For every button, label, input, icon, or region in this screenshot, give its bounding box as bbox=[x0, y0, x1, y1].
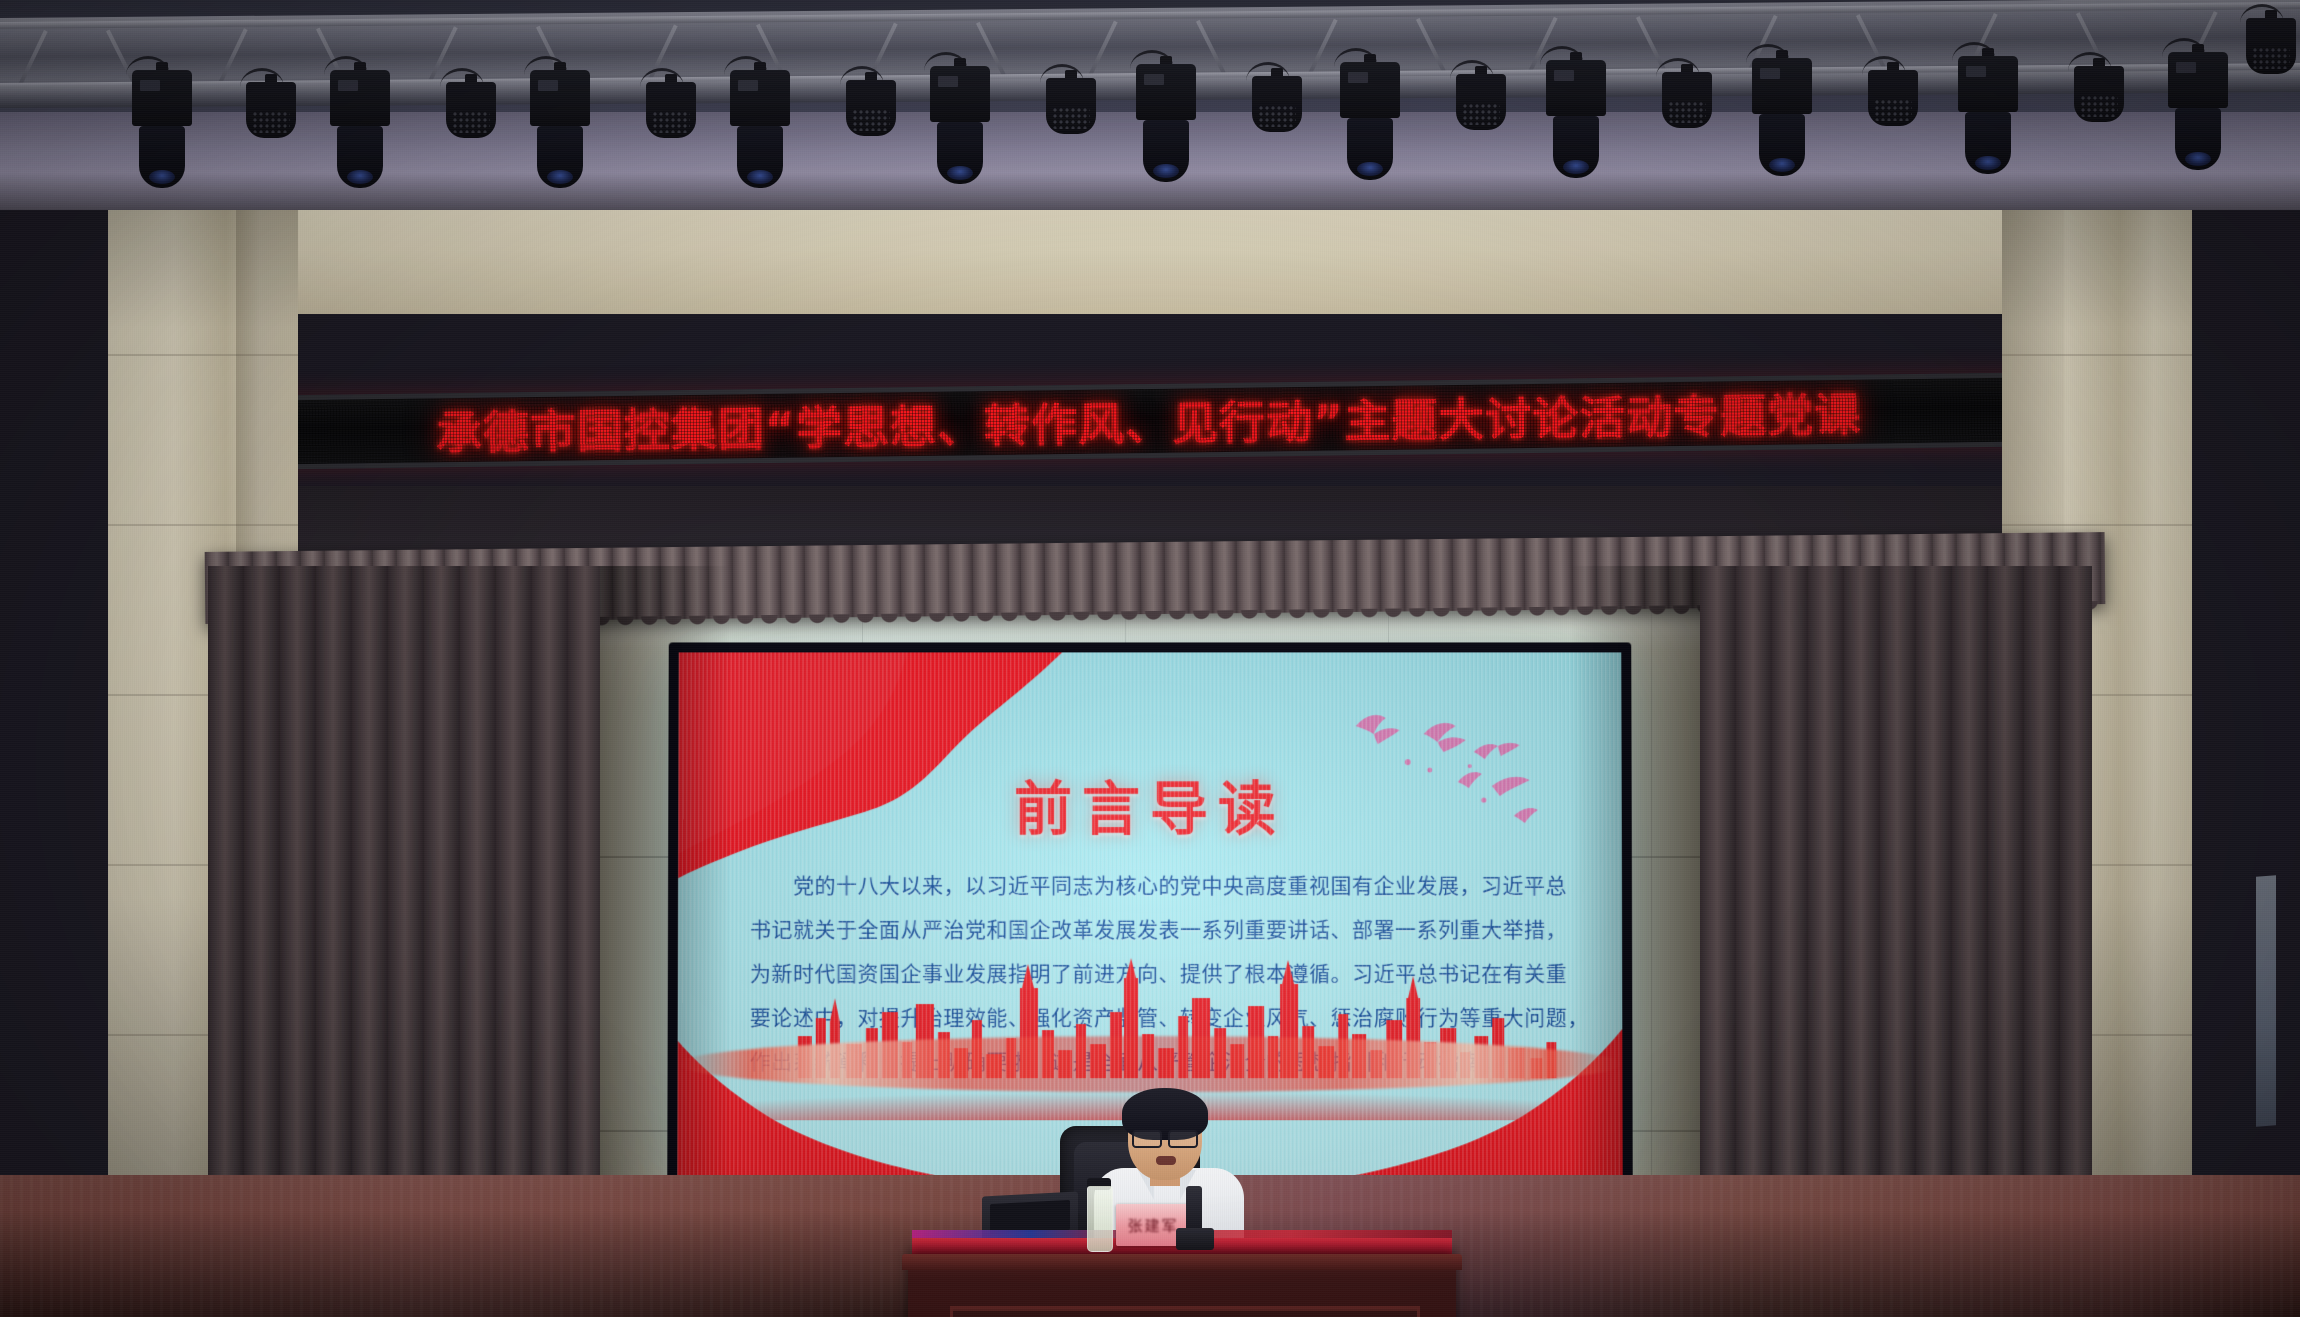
speaker-podium bbox=[908, 1254, 1456, 1317]
moving-head-light bbox=[2168, 52, 2228, 170]
par-can-light bbox=[2246, 18, 2296, 74]
moving-head-light bbox=[1958, 56, 2018, 174]
moving-head-light bbox=[730, 70, 790, 188]
podium-cap-moulding bbox=[902, 1254, 1462, 1270]
moving-head-light bbox=[1340, 62, 1400, 180]
moving-head-light bbox=[1136, 64, 1196, 182]
red-ribbon-highlight bbox=[678, 1036, 1623, 1092]
moving-head-light bbox=[132, 70, 192, 188]
par-can-light bbox=[1662, 72, 1712, 128]
ceiling-area bbox=[0, 0, 2300, 210]
window-sliver bbox=[2256, 875, 2276, 1126]
auditorium-hall: 承德市国控集团“学思想、转作风、见行动”主题大讨论活动专题党课 bbox=[0, 186, 2300, 1317]
microphone-base bbox=[1176, 1228, 1214, 1250]
speaker-mouth bbox=[1156, 1156, 1176, 1165]
water-bottle bbox=[1087, 1186, 1113, 1252]
par-can-light bbox=[246, 82, 296, 138]
slide-title: 前言导读 bbox=[678, 762, 1622, 846]
par-can-light bbox=[646, 82, 696, 138]
moving-head-light bbox=[530, 70, 590, 188]
par-can-light bbox=[846, 80, 896, 136]
moving-head-light bbox=[930, 66, 990, 184]
par-can-light bbox=[1456, 74, 1506, 130]
glasses-icon bbox=[1132, 1130, 1198, 1145]
led-banner-text: 承德市国控集团“学思想、转作风、见行动”主题大讨论活动专题党课 bbox=[435, 379, 1861, 464]
moving-head-light bbox=[330, 70, 390, 188]
par-can-light bbox=[2074, 66, 2124, 122]
moving-head-light bbox=[1752, 58, 1812, 176]
par-can-light bbox=[1252, 76, 1302, 132]
par-can-light bbox=[1868, 70, 1918, 126]
auditorium-stage-photo: 承德市国控集团“学思想、转作风、见行动”主题大讨论活动专题党课 bbox=[0, 0, 2300, 1317]
slide-line: 党的十八大以来，以习近平同志为核心的党中央高度重视国有企业发展，习近平总 bbox=[750, 864, 1556, 908]
par-can-light bbox=[1046, 78, 1096, 134]
moving-head-light bbox=[1546, 60, 1606, 178]
podium-front-panel bbox=[950, 1306, 1420, 1317]
par-can-light bbox=[446, 82, 496, 138]
led-banner: 承德市国控集团“学思想、转作风、见行动”主题大讨论活动专题党课 bbox=[196, 372, 2102, 471]
slide-line: 书记就关于全面从严治党和国企改革发展发表一系列重要讲话、部署一系列重大举措， bbox=[750, 908, 1556, 952]
